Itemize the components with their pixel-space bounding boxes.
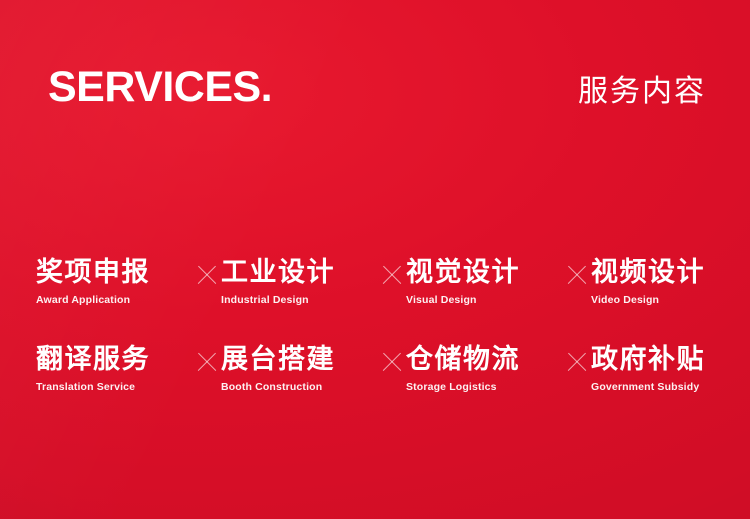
service-item-storage-logistics[interactable]: 仓储物流 Storage Logistics [406, 345, 563, 394]
service-label-chinese: 视频设计 [591, 258, 748, 287]
service-label-chinese: 展台搭建 [221, 345, 378, 374]
service-label-english: Booth Construction [221, 382, 378, 394]
service-label-english: Industrial Design [221, 295, 378, 307]
x-separator-icon [563, 347, 591, 377]
service-item-visual-design[interactable]: 视觉设计 Visual Design [406, 258, 563, 307]
page-title-english: SERVICES. [48, 66, 272, 109]
service-item-award-application[interactable]: 奖项申报 Award Application [36, 258, 193, 307]
x-separator-icon [193, 347, 221, 377]
service-label-chinese: 奖项申报 [36, 258, 193, 287]
slide-header: SERVICES. 服务内容 [48, 66, 706, 124]
service-label-english: Award Application [36, 295, 193, 307]
service-label-chinese: 政府补贴 [591, 345, 748, 374]
page-title-chinese: 服务内容 [578, 77, 706, 107]
service-label-english: Visual Design [406, 295, 563, 307]
service-label-chinese: 翻译服务 [36, 345, 193, 374]
service-label-english: Government Subsidy [591, 382, 748, 394]
service-item-video-design[interactable]: 视频设计 Video Design [591, 258, 748, 307]
service-item-booth-construction[interactable]: 展台搭建 Booth Construction [221, 345, 378, 394]
x-separator-icon [193, 260, 221, 290]
service-item-translation-service[interactable]: 翻译服务 Translation Service [36, 345, 193, 394]
x-separator-icon [378, 260, 406, 290]
x-separator-icon [378, 347, 406, 377]
services-row: 奖项申报 Award Application 工业设计 Industrial D… [36, 258, 722, 307]
x-separator-icon [563, 260, 591, 290]
service-label-chinese: 仓储物流 [406, 345, 563, 374]
service-label-english: Video Design [591, 295, 748, 307]
services-grid: 奖项申报 Award Application 工业设计 Industrial D… [36, 258, 722, 393]
service-label-english: Storage Logistics [406, 382, 563, 394]
service-label-chinese: 工业设计 [221, 258, 378, 287]
services-row: 翻译服务 Translation Service 展台搭建 Booth Cons… [36, 345, 722, 394]
services-slide: SERVICES. 服务内容 奖项申报 Award Application 工业… [0, 0, 750, 519]
service-label-chinese: 视觉设计 [406, 258, 563, 287]
service-item-government-subsidy[interactable]: 政府补贴 Government Subsidy [591, 345, 748, 394]
service-item-industrial-design[interactable]: 工业设计 Industrial Design [221, 258, 378, 307]
service-label-english: Translation Service [36, 382, 193, 394]
